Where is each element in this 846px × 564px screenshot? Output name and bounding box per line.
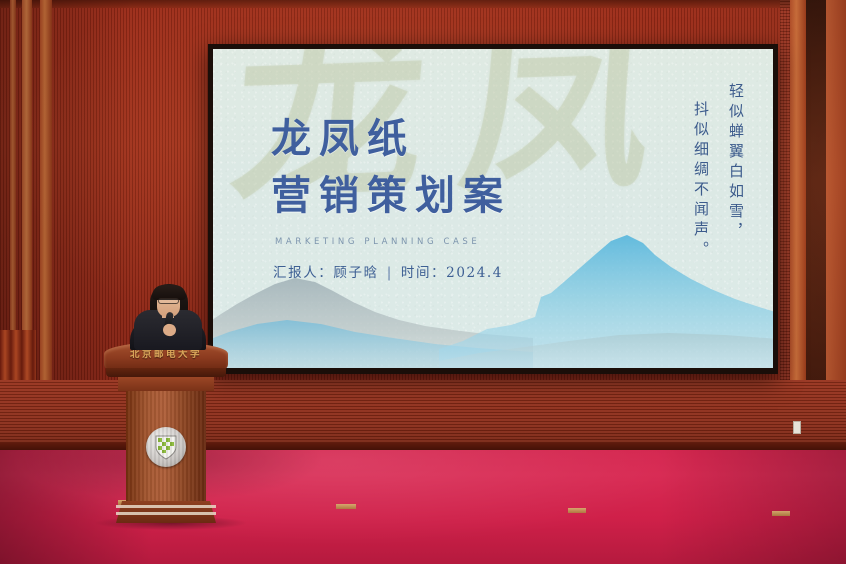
floor-brass-plate bbox=[772, 511, 790, 516]
poem-column-right: 轻似蝉翼白如雪， bbox=[726, 83, 747, 261]
presenter-glasses bbox=[158, 298, 179, 304]
speaker-podium: 北京邮电大学 bbox=[104, 342, 228, 528]
crest-shield-icon bbox=[154, 434, 178, 460]
byline-date: 时间：2024.4 bbox=[401, 265, 503, 281]
slide-vertical-poem: 轻似蝉翼白如雪， 抖似细绸不闻声。 bbox=[691, 83, 747, 261]
podium-base-trim bbox=[116, 505, 216, 508]
presentation-slide: 龙凤 bbox=[213, 49, 773, 368]
presenter-person bbox=[132, 282, 204, 348]
slide-subtitle-english: MARKETING PLANNING CASE bbox=[275, 237, 511, 247]
university-crest-icon bbox=[146, 427, 186, 467]
floor-brass-plate bbox=[568, 508, 586, 513]
podium-column bbox=[126, 391, 206, 501]
slide-title-line-2: 营销策划案 bbox=[271, 168, 511, 225]
byline-separator: | bbox=[379, 265, 401, 281]
poem-column-left: 抖似细绸不闻声。 bbox=[691, 101, 712, 261]
floor-brass-plate bbox=[336, 504, 356, 509]
slide-text-block: 龙凤纸 营销策划案 MARKETING PLANNING CASE 汇报人：顾子… bbox=[271, 111, 511, 281]
slide-title-line-1: 龙凤纸 bbox=[271, 111, 511, 168]
podium-base-trim bbox=[116, 512, 216, 515]
wall-power-outlet bbox=[793, 421, 801, 434]
auditorium-scene: 龙凤 bbox=[0, 0, 846, 564]
projection-screen-frame: 龙凤 bbox=[208, 44, 778, 374]
slide-byline: 汇报人：顾子晗|时间：2024.4 bbox=[273, 261, 511, 281]
podium-front-lip bbox=[106, 368, 226, 377]
podium-neck bbox=[118, 377, 214, 391]
byline-presenter: 汇报人：顾子晗 bbox=[273, 265, 379, 281]
